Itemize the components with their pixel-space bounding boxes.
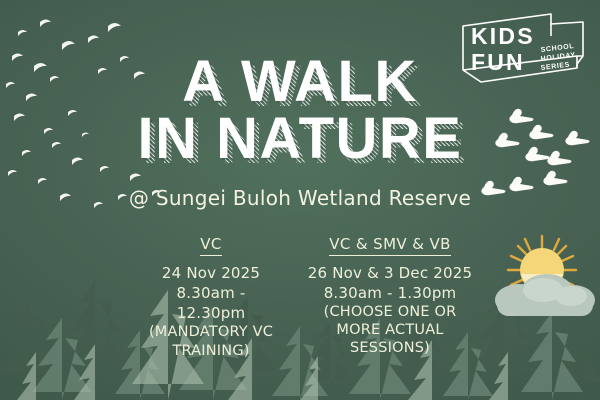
title-line-1-text: A WALK	[182, 49, 418, 114]
title-line-2-text: IN NATURE	[138, 106, 463, 171]
poster-canvas: KIDS FUN SCHOOL HOLIDAY SERIES A WALK A …	[0, 0, 600, 400]
session-heading: VC	[200, 235, 222, 256]
session-time: 8.30am - 12.30pm	[140, 283, 282, 324]
session-column-vc: VC 24 Nov 2025 8.30am - 12.30pm (MANDATO…	[140, 234, 282, 360]
title-line-1: A WALK A WALK	[138, 55, 463, 108]
poster-content: A WALK A WALK IN NATURE IN NATURE @ Sung…	[0, 0, 600, 400]
session-column-vc-smv-vb: VC & SMV & VB 26 Nov & 3 Dec 2025 8.30am…	[300, 234, 480, 360]
session-date: 26 Nov & 3 Dec 2025	[300, 263, 480, 283]
title-line-2: IN NATURE IN NATURE	[138, 112, 463, 165]
poster-title: A WALK A WALK IN NATURE IN NATURE	[138, 55, 463, 166]
session-note: (CHOOSE ONE OR MORE ACTUAL SESSIONS)	[300, 303, 480, 357]
poster-subtitle-location: @ Sungei Buloh Wetland Reserve	[129, 186, 471, 210]
session-date: 24 Nov 2025	[140, 263, 282, 283]
session-note: (MANDATORY VC TRAINING)	[140, 323, 282, 359]
sessions-container: VC 24 Nov 2025 8.30am - 12.30pm (MANDATO…	[0, 234, 600, 360]
session-time: 8.30am - 1.30pm	[300, 283, 480, 303]
session-heading: VC & SMV & VB	[329, 235, 451, 256]
